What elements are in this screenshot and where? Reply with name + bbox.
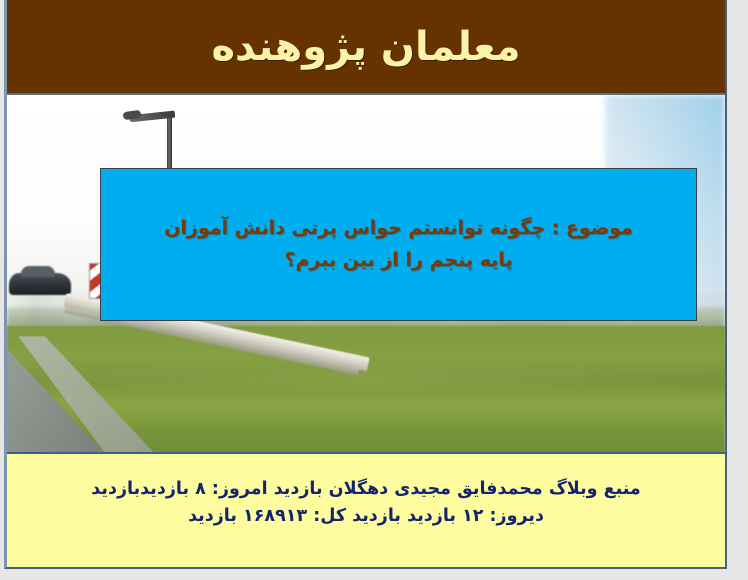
page-canvas: معلمان پژوهنده (0, 0, 748, 580)
footer-source-line: منبع وبلاگ محمدفایق مجیدی دهگلان بازدید … (21, 476, 711, 503)
parked-car (9, 273, 71, 295)
page-title: معلمان پژوهنده (211, 27, 520, 67)
subject-line-2: پایه پنجم را از بین ببرم؟ (164, 245, 633, 276)
subject-line-1: موضوع : چگونه توانستم حواس پرتی دانش آمو… (164, 213, 633, 244)
footer-visits-line: دیروز: ۱۲ بازدید بازدید کل: ۱۶۸۹۱۳ بازدی… (21, 503, 711, 530)
subject-text: موضوع : چگونه توانستم حواس پرتی دانش آمو… (164, 213, 633, 276)
subject-box: موضوع : چگونه توانستم حواس پرتی دانش آمو… (100, 168, 697, 321)
document-body: معلمان پژوهنده (4, 0, 727, 569)
footer-bar: منبع وبلاگ محمدفایق مجیدی دهگلان بازدید … (7, 452, 725, 567)
header-banner: معلمان پژوهنده (7, 0, 725, 95)
footer-text: منبع وبلاگ محمدفایق مجیدی دهگلان بازدید … (21, 476, 711, 530)
